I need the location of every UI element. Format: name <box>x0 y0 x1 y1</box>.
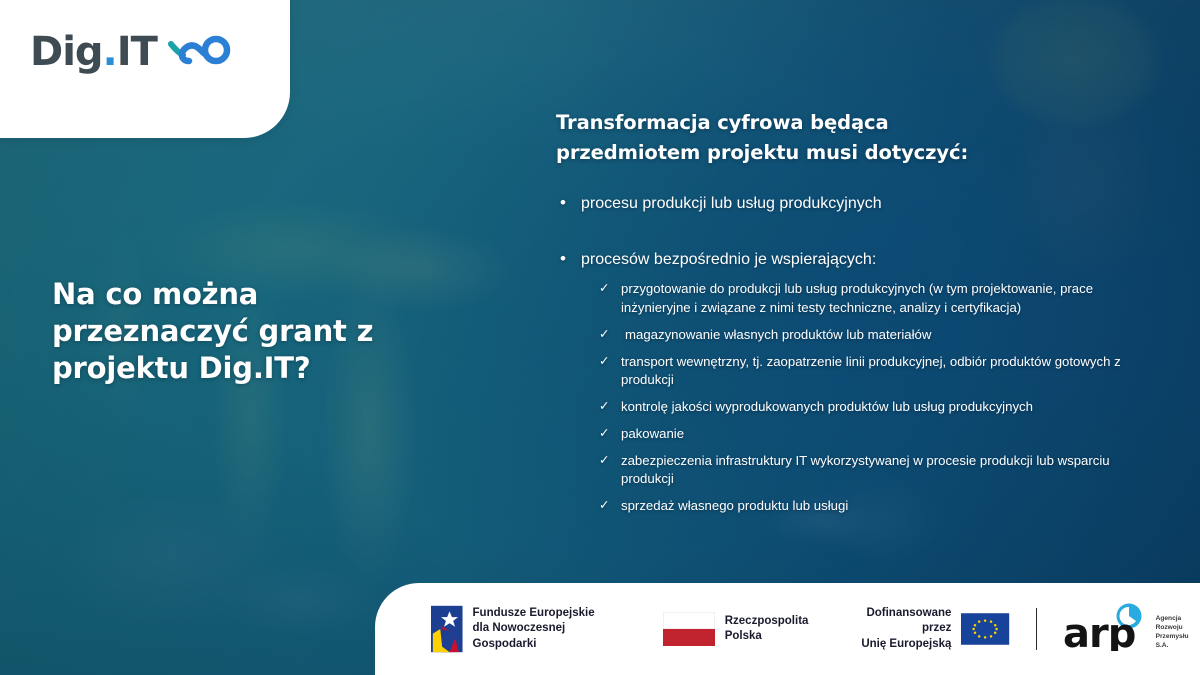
slide-root: Dig.IT Na co można przeznaczyć grant z p… <box>0 0 1200 675</box>
bullet-text: procesu produkcji lub usług produkcyjnyc… <box>581 195 882 212</box>
page-title: Na co można przeznaczyć grant z projektu… <box>52 276 382 387</box>
list-item: ✓kontrolę jakości wyprodukowanych produk… <box>599 398 1156 417</box>
logo-panel: Dig.IT <box>0 0 290 138</box>
dig-it-logo[interactable]: Dig.IT <box>30 30 233 74</box>
content-title: Transformacja cyfrowa będąca przedmiotem… <box>556 108 1026 168</box>
check-icon: ✓ <box>599 425 609 443</box>
fundusze-europejskie-label: Fundusze Europejskie dla Nowoczesnej Gos… <box>473 606 621 652</box>
check-text: sprzedaż własnego produktu lub usługi <box>621 498 848 513</box>
logo-dot: . <box>103 29 117 75</box>
list-item: ✓przygotowanie do produkcji lub usług pr… <box>599 280 1156 317</box>
arp-logo: arp Agencja Rozwoju Przemysłu S.A. <box>1063 603 1200 656</box>
check-text: magazynowanie własnych produktów lub mat… <box>625 327 931 342</box>
logo-word-dig: Dig <box>30 29 103 75</box>
logo-word-it: IT <box>117 29 157 75</box>
rzeczpospolita-polska-logo: Rzeczpospolita Polska <box>663 612 809 646</box>
check-icon: ✓ <box>599 326 609 344</box>
arp-subtitle: Agencja Rozwoju Przemysłu S.A. <box>1156 615 1200 656</box>
footer-divider <box>1036 608 1037 650</box>
list-item: ✓transport wewnętrzny, tj. zaopatrzenie … <box>599 353 1156 390</box>
check-text: kontrolę jakości wyprodukowanych produkt… <box>621 399 1033 414</box>
unia-europejska-logo: Dofinansowane przez Unię Europejską <box>842 606 1009 652</box>
list-item: procesu produkcji lub usług produkcyjnyc… <box>556 192 1156 216</box>
bullet-text: procesów bezpośrednio je wspierających: <box>581 251 876 268</box>
arp-wordmark: arp <box>1063 603 1149 656</box>
infinity-mark-icon <box>167 30 233 74</box>
check-icon: ✓ <box>599 497 609 515</box>
list-item: ✓zabezpieczenia infrastruktury IT wykorz… <box>599 452 1156 489</box>
logo-wordmark: Dig.IT <box>30 32 157 72</box>
svg-text:arp: arp <box>1063 611 1135 651</box>
list-item: ✓sprzedaż własnego produktu lub usługi <box>599 497 1156 516</box>
main-bullet-list: procesu produkcji lub usług produkcyjnyc… <box>556 192 1156 515</box>
rzeczpospolita-polska-label: Rzeczpospolita Polska <box>725 614 809 644</box>
check-text: przygotowanie do produkcji lub usług pro… <box>621 281 1093 315</box>
list-item: procesów bezpośrednio je wspierających: … <box>556 248 1156 515</box>
unia-europejska-label: Dofinansowane przez Unię Europejską <box>842 606 951 652</box>
check-icon: ✓ <box>599 353 609 371</box>
poland-flag-icon <box>663 612 715 646</box>
check-icon: ✓ <box>599 398 609 416</box>
fundusze-europejskie-icon <box>431 604 463 654</box>
check-list: ✓przygotowanie do produkcji lub usług pr… <box>599 280 1156 515</box>
eu-flag-icon <box>961 612 1009 646</box>
footer-logo-bar: Fundusze Europejskie dla Nowoczesnej Gos… <box>375 583 1200 675</box>
content-column: Transformacja cyfrowa będąca przedmiotem… <box>556 108 1156 526</box>
check-text: zabezpieczenia infrastruktury IT wykorzy… <box>621 453 1110 487</box>
fundusze-europejskie-logo: Fundusze Europejskie dla Nowoczesnej Gos… <box>431 604 621 654</box>
check-text: pakowanie <box>621 426 684 441</box>
check-icon: ✓ <box>599 280 609 298</box>
list-item: ✓magazynowanie własnych produktów lub ma… <box>599 326 1156 345</box>
check-text: transport wewnętrzny, tj. zaopatrzenie l… <box>621 354 1121 388</box>
check-icon: ✓ <box>599 452 609 470</box>
list-item: ✓pakowanie <box>599 425 1156 444</box>
